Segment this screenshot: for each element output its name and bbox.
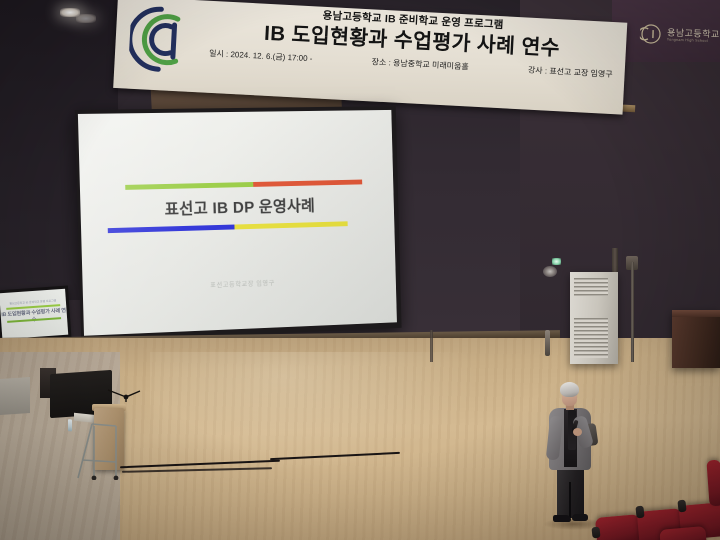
slide-bottom-bar bbox=[108, 221, 348, 233]
screen-surface: 표선고 IB DP 운영사례 표선고등학교장 임영구 bbox=[78, 110, 397, 336]
title-slide: 표선고 IB DP 운영사례 표선고등학교장 임영구 bbox=[78, 110, 397, 336]
seat-armrest bbox=[591, 527, 600, 539]
bar-segment-yellow bbox=[234, 221, 347, 229]
presenter-hand bbox=[573, 428, 582, 436]
podium-microphone bbox=[106, 388, 142, 402]
podium-frame bbox=[76, 420, 128, 480]
slide-subtitle: 표선고등학교장 임영구 bbox=[83, 273, 396, 294]
ib-logo bbox=[128, 3, 202, 77]
banner-place: 장소 : 용남중학교 미래미움홀 bbox=[371, 56, 469, 72]
presenter bbox=[540, 382, 598, 530]
presenter-shoe-right bbox=[572, 514, 588, 521]
floor-microphone bbox=[545, 330, 550, 356]
banner-speaker: 강사 : 표선고 교장 임영구 bbox=[528, 65, 613, 80]
presenter-hair bbox=[560, 382, 579, 397]
presenter-shoe-left bbox=[553, 515, 571, 522]
seat-armrest bbox=[677, 500, 686, 513]
bar-segment-blue bbox=[108, 225, 235, 234]
wooden-podium-top bbox=[672, 310, 720, 317]
school-emblem-icon bbox=[640, 23, 663, 46]
presenter-leg-gap bbox=[569, 482, 571, 518]
seat-armrest bbox=[635, 506, 644, 519]
side-monitor-screen: 용남고등학교 IB 준비학교 운영 프로그램 IB 도입현황과 수업평가 사례 … bbox=[0, 289, 68, 339]
ac-bottom-grill bbox=[574, 318, 608, 358]
projection-screen: 표선고 IB DP 운영사례 표선고등학교장 임영구 bbox=[75, 106, 402, 342]
slide-top-bar bbox=[125, 180, 362, 190]
ac-top-grill bbox=[574, 278, 608, 296]
seat bbox=[706, 460, 720, 507]
floor-reflection bbox=[150, 352, 480, 472]
mic-stand bbox=[631, 262, 634, 362]
seat bbox=[595, 514, 641, 540]
auditorium-photo: 용남고등학교 IB 준비학교 운영 프로그램 IB 도입현황과 수업평가 사례 … bbox=[0, 0, 720, 540]
ceiling-light bbox=[543, 266, 557, 277]
water-bottle bbox=[68, 419, 72, 431]
wall-panel bbox=[0, 377, 30, 415]
wooden-podium bbox=[672, 310, 720, 368]
bar-segment-orange bbox=[253, 180, 363, 187]
slide-title: 표선고 IB DP 운영사례 bbox=[80, 190, 394, 222]
wall-sign: 용남고등학교 Yongnam High School bbox=[639, 17, 720, 54]
support-pole bbox=[430, 330, 433, 362]
air-conditioner bbox=[570, 272, 618, 364]
bar-segment-green bbox=[125, 182, 253, 190]
indicator-lamp bbox=[552, 258, 561, 265]
banner-date: 일시 : 2024. 12. 6.(금) 17:00 - bbox=[209, 48, 313, 64]
ceiling-light bbox=[76, 14, 96, 23]
